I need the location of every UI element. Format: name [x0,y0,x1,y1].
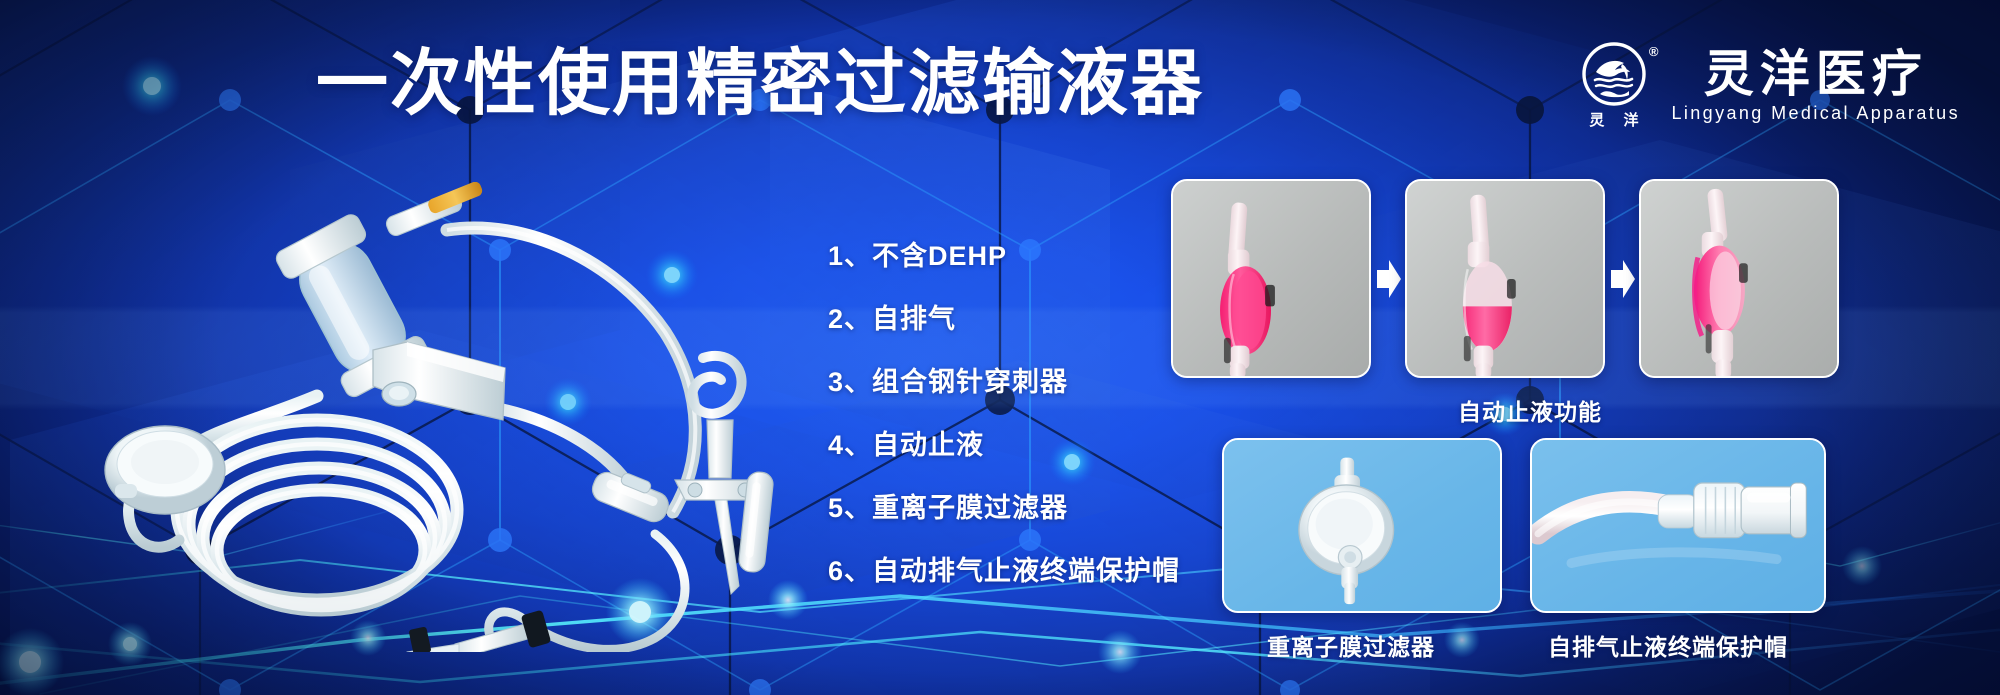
arrow-right-icon [1375,258,1403,300]
feature-item-4: 4、自动止液 [828,411,1180,474]
filter-housing-part [105,426,225,514]
auto-stop-frame-1 [1171,179,1371,378]
feature-list: 1、不含DEHP 2、自排气 3、组合钢针穿刺器 4、自动止液 5、重离子膜过滤… [828,222,1180,600]
feature-item-3: 3、组合钢针穿刺器 [828,348,1180,411]
heavy-ion-membrane-filter-panel [1222,438,1502,613]
arrow-right-icon [1609,258,1637,300]
feature-item-1: 1、不含DEHP [828,222,1180,285]
logo-mark-glyph-ling: 灵 [1589,109,1605,130]
wave-bird-circle-icon [1582,42,1646,106]
infusion-set-photo [55,182,795,652]
logo-mark: ® 灵 洋 [1573,42,1655,130]
auto-stop-frame-3 [1639,179,1839,378]
auto-stop-frame-2 [1405,179,1605,378]
drip-chamber-full-photo [1173,181,1369,376]
round-filter-housing-photo [1224,440,1500,611]
terminal-protective-cap-caption: 自排气止液终端保护帽 [1548,628,1788,662]
tube-tag-part [408,626,431,652]
registered-trademark-symbol: ® [1649,44,1659,59]
luer-connector-cap-photo [1532,440,1824,611]
y-connector-part [589,463,675,526]
feature-item-2: 2、自排气 [828,285,1180,348]
heavy-ion-membrane-filter-caption: 重离子膜过滤器 [1267,628,1435,662]
auto-stop-caption: 自动止液功能 [1458,393,1602,427]
terminal-protective-cap-panel [1530,438,1826,613]
brand-logo: ® 灵 洋 灵洋医疗 Lingyang Medical Apparatus [1573,42,1960,130]
roller-clamp-part [373,342,505,420]
company-name-en: Lingyang Medical Apparatus [1671,103,1960,124]
logo-mark-glyph-yang: 洋 [1623,109,1639,130]
drip-chamber-stopped-photo [1641,181,1837,376]
feature-item-6: 6、自动排气止液终端保护帽 [828,537,1180,600]
drip-chamber-half-photo [1407,181,1603,376]
logo-text-block: 灵洋医疗 Lingyang Medical Apparatus [1671,49,1960,124]
feature-item-5: 5、重离子膜过滤器 [828,474,1180,537]
company-name-cn: 灵洋医疗 [1704,49,1928,100]
page-title: 一次性使用精密过滤输液器 [316,48,1316,120]
product-banner: 一次性使用精密过滤输液器 ® 灵 洋 灵洋医疗 [0,0,2000,695]
